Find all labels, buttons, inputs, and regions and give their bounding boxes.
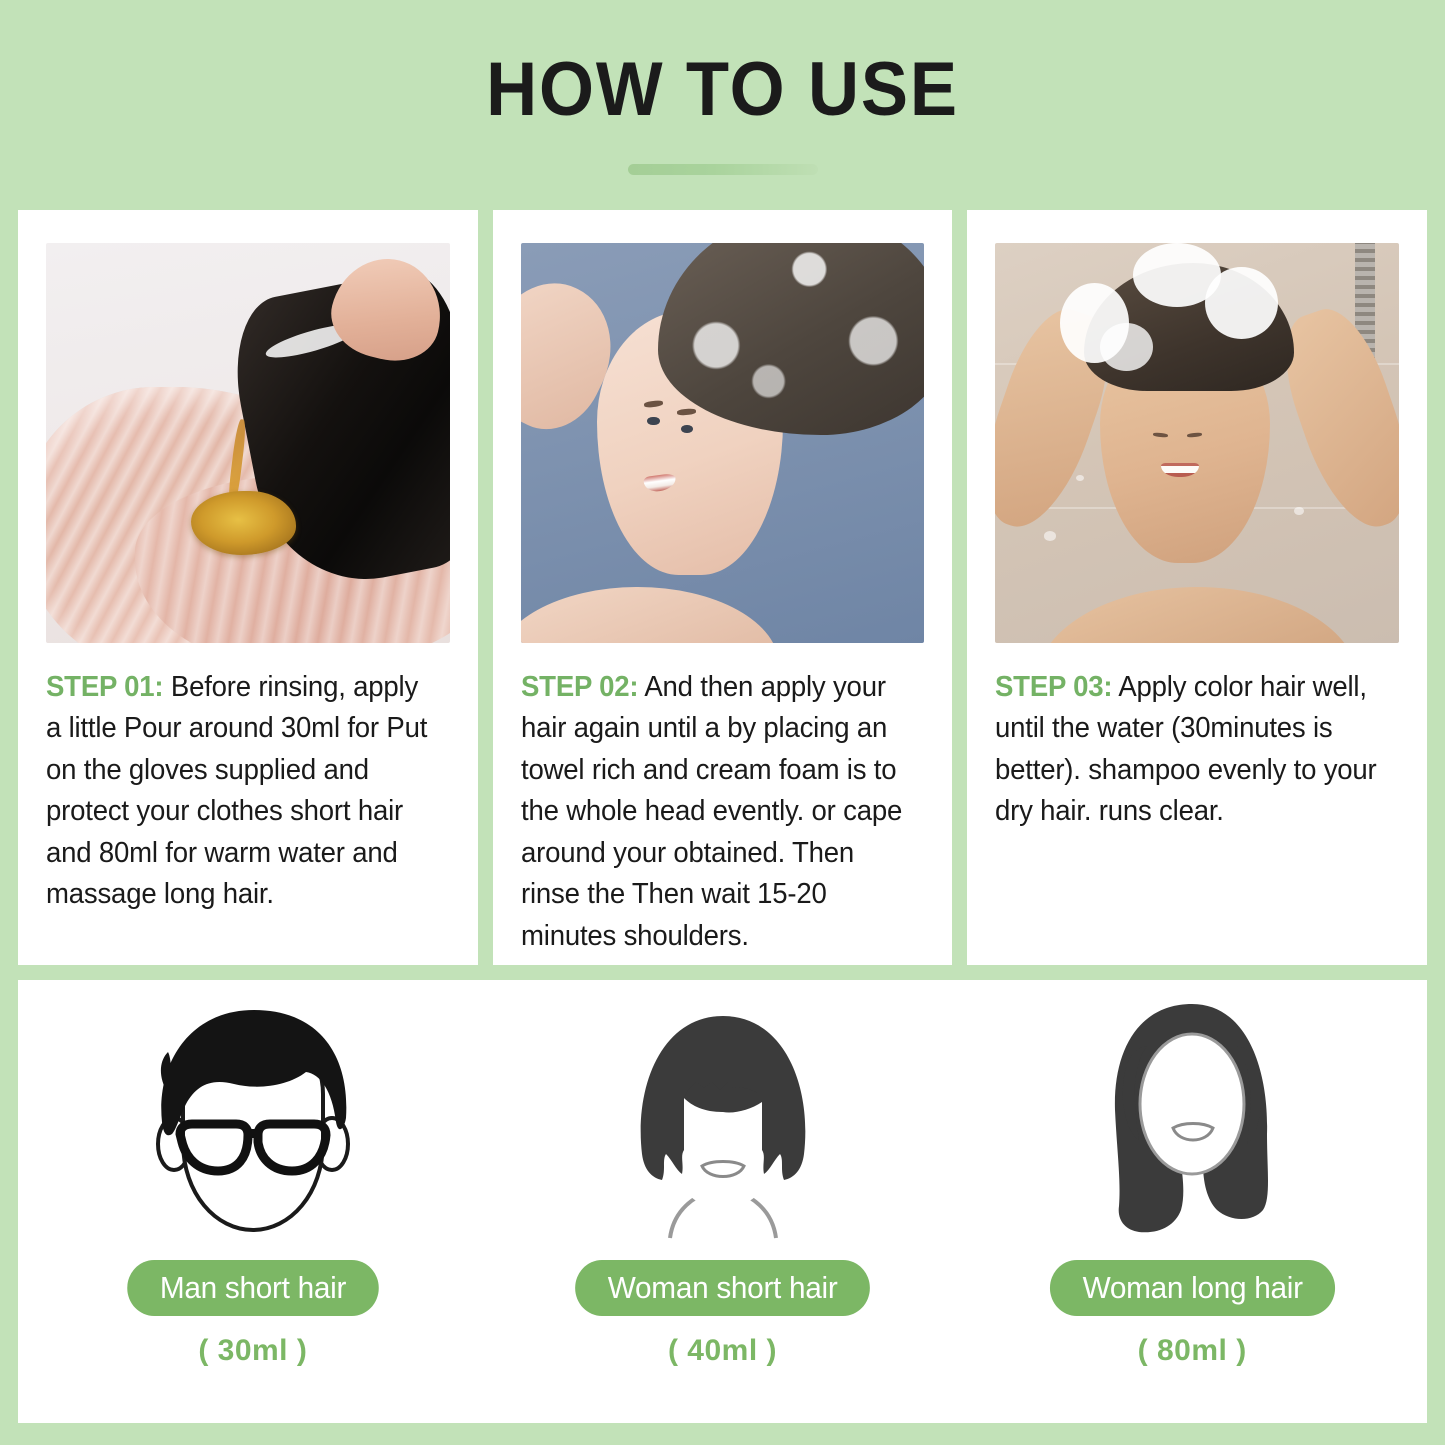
eye-left-closed [1153,432,1169,437]
page-title: HOW TO USE [51,52,1395,128]
step-1-label: STEP 01: [46,671,163,703]
hair-type-label-man-short[interactable]: Man short hair [127,1260,378,1316]
smiling-mouth [1161,463,1198,477]
oil-puddle [191,491,296,555]
step-2-photo [521,243,925,643]
hair-type-panel: Man short hair ( 30ml ) Woman [18,980,1427,1423]
eyebrow-right [677,408,696,415]
hair-type-volume-man-short: ( 30ml ) [198,1334,307,1368]
step-1-text: STEP 01: Before rinsing, apply a little … [46,667,429,916]
step-1-body: Before rinsing, apply a little Pour arou… [46,671,427,910]
woman-long-hair-icon [1077,994,1307,1244]
step-card-3: STEP 03: Apply color hair well, until th… [967,210,1427,965]
man-short-hair-icon [138,994,368,1244]
eye-right [681,425,693,433]
step-3-photo [995,243,1399,643]
hair-type-man-short: Man short hair ( 30ml ) [18,980,488,1423]
water-drop [1076,475,1084,481]
hair-type-woman-long: Woman long hair ( 80ml ) [957,980,1427,1423]
woman-short-hair-icon [608,994,838,1244]
eyebrow-left [643,400,662,408]
step-2-body: And then apply your hair again until a b… [521,671,902,952]
header: HOW TO USE [0,0,1445,175]
how-to-use-infographic: HOW TO USE STEP 01: Before rinsing, appl… [0,0,1445,1445]
step-card-2: STEP 02: And then apply your hair again … [493,210,953,965]
water-drop [1044,531,1056,541]
shoulder-shape [1036,587,1359,643]
step-card-1: STEP 01: Before rinsing, apply a little … [18,210,478,965]
step-2-text: STEP 02: And then apply your hair again … [521,667,904,957]
smiling-mouth [643,473,676,493]
water-drop [1294,507,1304,515]
step-1-photo [46,243,450,643]
step-3-label: STEP 03: [995,671,1112,703]
hair-type-volume-woman-long: ( 80ml ) [1138,1334,1247,1368]
hair-type-label-woman-short[interactable]: Woman short hair [575,1260,870,1316]
hair-type-label-woman-long[interactable]: Woman long hair [1049,1260,1334,1316]
step-2-label: STEP 02: [521,671,638,703]
title-accent-bar [628,164,818,175]
eye-right-closed [1187,432,1203,437]
hair-type-volume-woman-short: ( 40ml ) [668,1334,777,1368]
eye-left [647,417,659,425]
foam-blob [1205,267,1278,339]
shoulder-shape [521,587,779,643]
hair-type-woman-short: Woman short hair ( 40ml ) [488,980,958,1423]
lathered-hair-shape [658,243,924,435]
steps-row: STEP 01: Before rinsing, apply a little … [18,210,1427,965]
step-3-text: STEP 03: Apply color hair well, until th… [995,667,1378,833]
foam-blob [1100,323,1152,371]
